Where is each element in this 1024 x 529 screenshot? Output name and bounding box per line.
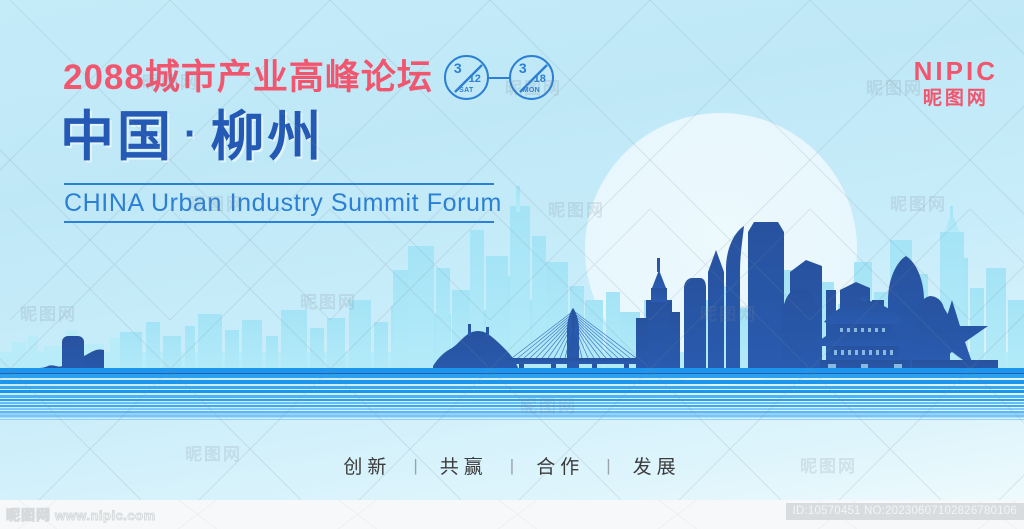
footer-site-url: www.nipic.com bbox=[55, 508, 156, 523]
subtitle-rule-bottom bbox=[64, 221, 494, 223]
artwork-background: 2088城市产业高峰论坛 3 12 SAT 3 18 bbox=[0, 0, 1024, 500]
slogan-word-4: 发展 bbox=[633, 452, 681, 479]
footer-site-info: 昵图网 www.nipic.com bbox=[6, 505, 156, 525]
footer-site-zh: 昵图网 bbox=[6, 505, 51, 525]
footer-id-label: ID:10570451 NO:20230607102826780106 bbox=[786, 503, 1024, 520]
slogan-row: 创新 | 共赢 | 合作 | 发展 bbox=[0, 452, 1024, 479]
slogan-separator-2: | bbox=[488, 456, 536, 476]
oval-tower bbox=[782, 288, 818, 378]
start-month: 3 bbox=[454, 61, 462, 75]
date-badges: 3 12 SAT 3 18 MON bbox=[444, 55, 554, 100]
slogan-word-1: 创新 bbox=[343, 452, 391, 479]
city-title-separator: · bbox=[174, 112, 210, 156]
page-title: 2088城市产业高峰论坛 bbox=[63, 60, 433, 95]
date-badge-end: 3 18 MON bbox=[509, 55, 554, 100]
slogan-separator-3: | bbox=[584, 456, 632, 476]
slogan-word-2: 共赢 bbox=[440, 452, 488, 479]
footer-bar: 昵图网 www.nipic.com ID:10570451 NO:2023060… bbox=[0, 500, 1024, 529]
water-stripes bbox=[0, 368, 1024, 420]
brand-name-zh: 昵图网 bbox=[914, 87, 998, 112]
date-connector bbox=[489, 77, 509, 79]
end-day: 18 bbox=[534, 74, 546, 85]
brand-name-en: NIPIC bbox=[914, 58, 998, 85]
city-title: 中国·柳州 bbox=[60, 108, 324, 166]
brand-logo: NIPIC 昵图网 bbox=[914, 58, 998, 112]
slogan-word-3: 合作 bbox=[536, 452, 584, 479]
slogan-separator-1: | bbox=[391, 456, 439, 476]
start-weekday: SAT bbox=[446, 87, 487, 94]
end-weekday: MON bbox=[511, 87, 552, 94]
english-subtitle: CHINA Urban Industry Summit Forum bbox=[64, 188, 494, 219]
subtitle-rule-top bbox=[64, 183, 494, 185]
end-month: 3 bbox=[519, 61, 527, 75]
date-badge-start: 3 12 SAT bbox=[444, 55, 489, 100]
start-day: 12 bbox=[469, 74, 481, 85]
poster-canvas: 2088城市产业高峰论坛 3 12 SAT 3 18 bbox=[0, 0, 1024, 529]
city-title-city: 柳州 bbox=[210, 107, 324, 167]
city-title-country: 中国 bbox=[60, 107, 174, 167]
english-subtitle-block: CHINA Urban Industry Summit Forum bbox=[64, 183, 494, 223]
headline-row: 2088城市产业高峰论坛 3 12 SAT 3 18 bbox=[63, 55, 554, 100]
